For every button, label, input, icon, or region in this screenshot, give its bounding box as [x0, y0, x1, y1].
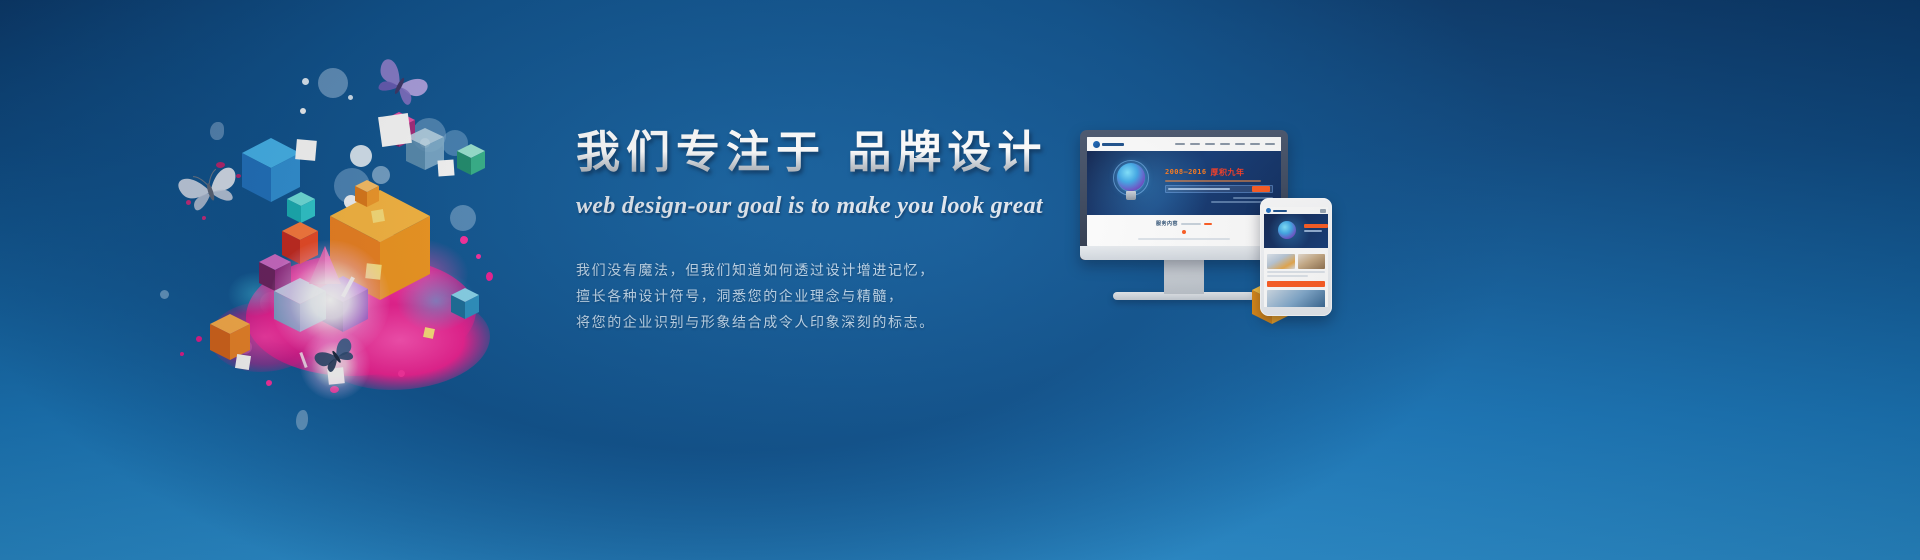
hero-title: 厚积九年 [1211, 167, 1245, 178]
butterfly-icon [368, 54, 432, 121]
hero-meta [1165, 197, 1273, 203]
phone-section [1264, 248, 1328, 307]
site-logo [1093, 141, 1124, 148]
bulb-base [1126, 191, 1136, 200]
bulb-glass [1117, 163, 1145, 191]
menu-item [1190, 143, 1200, 146]
bokeh-circle [296, 410, 308, 430]
cube-cyan-far [450, 288, 480, 320]
page-subtitle: web design-our goal is to make you look … [576, 193, 1136, 220]
monitor-screen: 2008—2016厚积九年 [1087, 137, 1281, 246]
site-section: 服务内容 [1087, 215, 1281, 246]
menu-item [1235, 143, 1245, 146]
white-square [423, 327, 435, 339]
paint-droplet [476, 254, 481, 259]
bokeh-circle [450, 205, 476, 231]
menu-item [1250, 143, 1260, 146]
logo-mark-icon [1093, 141, 1100, 148]
paragraph-line: 我们没有魔法，但我们知道如何透过设计增进记忆， [576, 258, 1136, 284]
section-title-en [1181, 223, 1201, 225]
site-hero-text: 2008—2016厚积九年 [1165, 167, 1273, 203]
phone-body [1260, 198, 1332, 316]
hero-year: 2008—2016 [1165, 168, 1207, 177]
white-square [371, 209, 385, 223]
section-desc-line [1138, 238, 1230, 240]
hero-tagline [1168, 188, 1230, 190]
cube-teal [286, 192, 316, 224]
monitor-stand [1164, 260, 1204, 294]
hero-underline [1165, 180, 1261, 182]
phone-cta-button[interactable] [1267, 281, 1325, 287]
butterfly-icon [310, 332, 362, 385]
logo-text [1273, 210, 1287, 212]
cube-cyan-right [456, 144, 486, 176]
phone-screen [1264, 207, 1328, 307]
phone-thumb-row [1267, 254, 1325, 269]
paint-droplet [180, 352, 184, 356]
site-hero: 2008—2016厚积九年 [1087, 151, 1281, 215]
section-title: 服务内容 [1094, 220, 1274, 227]
phone-navbar [1264, 207, 1328, 214]
device-mockups: 2008—2016厚积九年 [1080, 130, 1360, 330]
paragraph-line: 擅长各种设计符号，洞悉您的企业理念与精髓， [576, 284, 1136, 310]
site-navbar [1087, 137, 1281, 151]
thumbnail[interactable] [1298, 254, 1326, 269]
hero-cta-button[interactable] [1252, 186, 1270, 192]
phone-footer-image [1267, 290, 1325, 307]
phone-hero [1264, 214, 1328, 248]
lightbulb-icon [1113, 163, 1149, 203]
monitor-chin [1080, 246, 1288, 260]
hero-paragraph: 我们没有魔法，但我们知道如何透过设计增进记忆， 擅长各种设计符号，洞悉您的企业理… [576, 258, 1136, 336]
logo-mark-icon [1266, 208, 1271, 213]
menu-item [1220, 143, 1230, 146]
lightbulb-icon [1278, 221, 1296, 239]
artwork-cube-splash [150, 40, 610, 440]
bokeh-circle [348, 95, 353, 100]
bokeh-circle [302, 78, 309, 85]
white-square [437, 159, 454, 176]
website-preview: 2008—2016厚积九年 [1087, 137, 1281, 246]
bokeh-circle [318, 68, 348, 98]
logo-text [1102, 143, 1124, 146]
menu-item [1265, 143, 1275, 146]
caption-line [1267, 275, 1308, 277]
page-title: 我们专注于 品牌设计 [576, 128, 1136, 179]
bokeh-circle [210, 122, 224, 140]
white-square [235, 354, 251, 370]
paint-droplet [196, 336, 202, 342]
paragraph-line: 将您的企业识别与形象结合成令人印象深刻的标志。 [576, 310, 1136, 336]
paint-droplet [486, 272, 493, 281]
section-dot [1182, 230, 1186, 234]
hero-copy: 我们专注于 品牌设计 web design-our goal is to mak… [576, 128, 1136, 336]
site-menu [1175, 143, 1275, 146]
hero-sub-bar [1304, 230, 1322, 232]
hero-cta-bar [1165, 185, 1273, 193]
cube-orange-small [354, 180, 380, 208]
paint-droplet [266, 380, 272, 386]
bokeh-circle [350, 145, 372, 167]
section-accent [1204, 223, 1212, 225]
paint-droplet [460, 236, 468, 244]
caption-line [1267, 271, 1325, 273]
hero-title-bar [1304, 224, 1328, 228]
hero-banner: 我们专注于 品牌设计 web design-our goal is to mak… [0, 0, 1920, 560]
monitor-mockup: 2008—2016厚积九年 [1080, 130, 1288, 260]
monitor-bezel: 2008—2016厚积九年 [1080, 130, 1288, 260]
hamburger-icon[interactable] [1320, 209, 1326, 213]
phone-mockup [1260, 198, 1332, 316]
thumbnail[interactable] [1267, 254, 1295, 269]
menu-item [1175, 143, 1185, 146]
bokeh-circle [300, 108, 306, 114]
white-square [295, 139, 317, 161]
section-title-cn: 服务内容 [1156, 220, 1178, 227]
menu-item [1205, 143, 1215, 146]
butterfly-icon [174, 160, 246, 225]
bokeh-circle [160, 290, 169, 299]
